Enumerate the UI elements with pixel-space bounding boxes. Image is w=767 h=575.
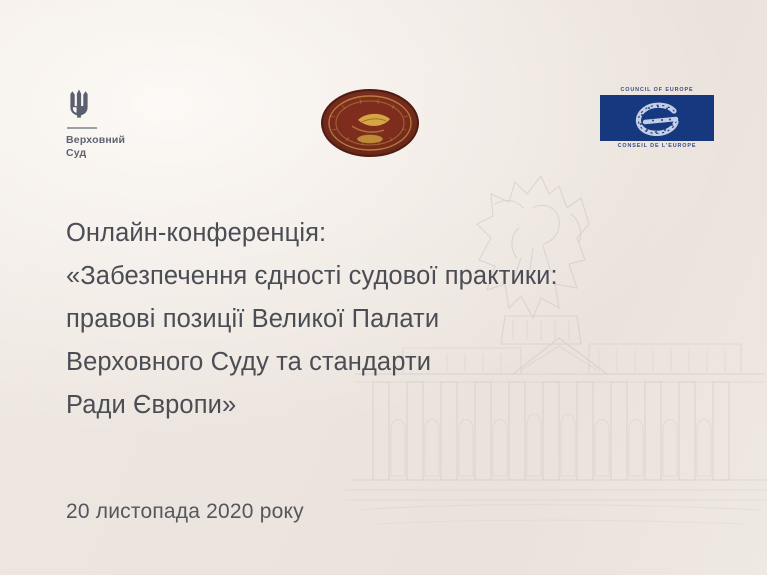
coe-emblem-icon — [600, 95, 714, 141]
event-date: 20 листопада 2020 року — [66, 498, 304, 526]
supreme-court-label: Верховний Суд — [66, 134, 186, 160]
court-seal-icon — [318, 86, 422, 160]
coe-flag — [600, 95, 714, 141]
coe-caption-bottom: CONSEIL DE L'EUROPE — [600, 142, 714, 150]
ukraine-trident-icon — [66, 88, 92, 120]
logo-row: Верховний Суд — [0, 84, 767, 170]
title-line-5: Ради Європи» — [66, 384, 766, 427]
supreme-court-logo: Верховний Суд — [66, 88, 186, 160]
title-line-3: правові позиції Великої Палати — [66, 298, 766, 341]
logo-divider — [67, 127, 97, 129]
title-line-2: «Забезпечення єдності судової практики: — [66, 255, 766, 298]
conference-banner: Верховний Суд — [0, 0, 767, 575]
title-line-1: Онлайн-конференція: — [66, 212, 766, 255]
conference-title: Онлайн-конференція: «Забезпечення єдност… — [66, 212, 766, 427]
coe-caption-top: COUNCIL OF EUROPE — [600, 86, 714, 94]
council-of-europe-logo: COUNCIL OF EUROPE — [600, 86, 714, 150]
title-line-4: Верховного Суду та стандарти — [66, 341, 766, 384]
